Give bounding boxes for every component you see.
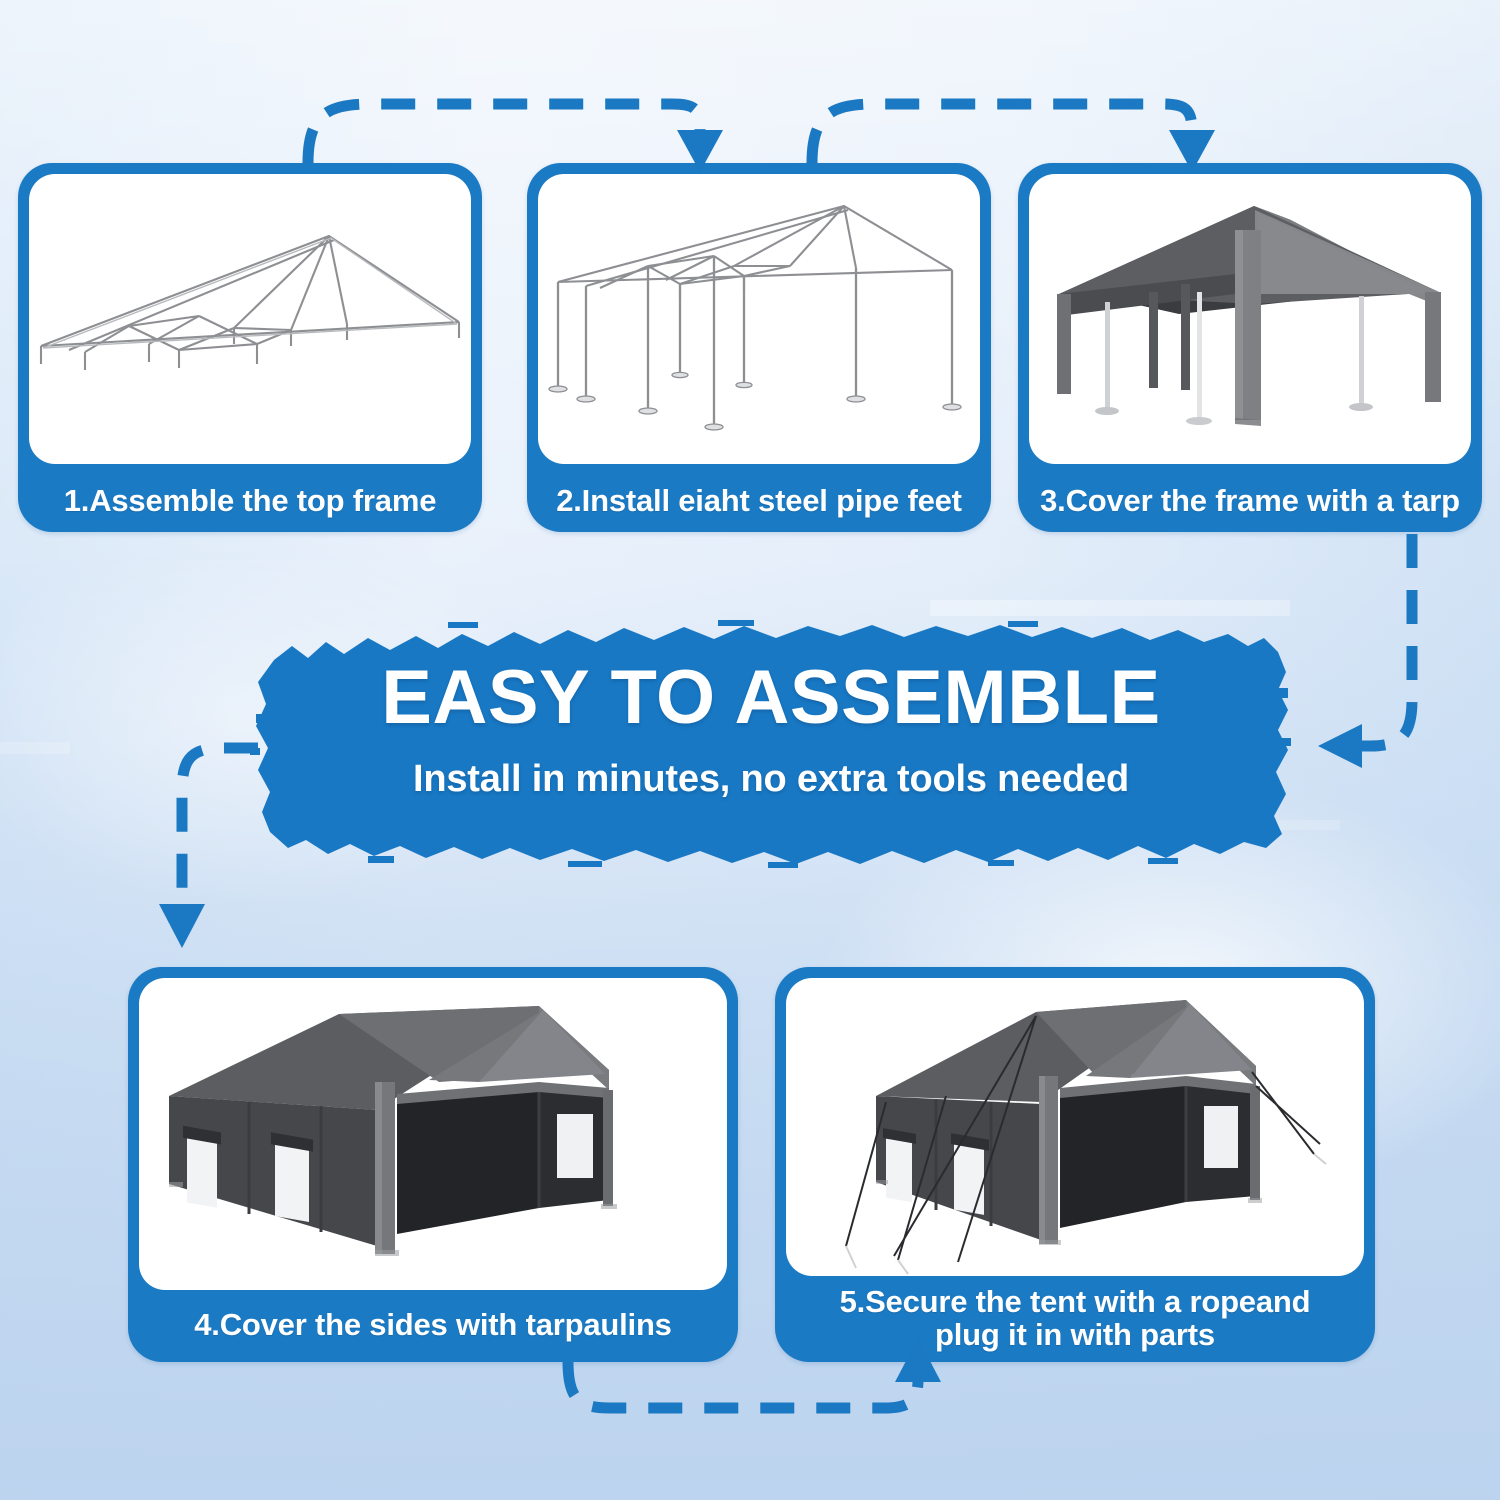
arrow-step1-to-step2 [308,104,723,172]
step-card-1[interactable]: 1.Assemble the top frame [18,163,482,532]
infographic-canvas: 1.Assemble the top frame [0,0,1500,1500]
banner-text-block: EASY TO ASSEMBLE Install in minutes, no … [248,660,1294,801]
background-streak-3 [0,742,70,754]
step-card-3[interactable]: 3.Cover the frame with a tarp [1018,163,1482,532]
step-1-caption: 1.Assemble the top frame [18,470,482,532]
step-5-caption: 5.Secure the tent with a ropeand plug it… [775,1274,1375,1362]
step-3-caption: 3.Cover the frame with a tarp [1018,470,1482,532]
background-streak-1 [930,600,1290,616]
carport-with-roof-tarp-illustration [1029,174,1471,464]
step-5-image-panel [786,978,1364,1276]
easy-to-assemble-banner: EASY TO ASSEMBLE Install in minutes, no … [248,618,1294,868]
step-4-caption: 4.Cover the sides with tarpaulins [128,1288,738,1362]
carport-frame-with-legs-illustration [538,174,980,464]
carport-with-side-walls-illustration [139,978,727,1290]
step-3-image-panel [1029,174,1471,464]
step-5-caption-line-2: plug it in with parts [840,1318,1311,1351]
banner-title: EASY TO ASSEMBLE [248,660,1294,736]
step-2-caption: 2.Install eiaht steel pipe feet [527,470,991,532]
step-card-2[interactable]: 2.Install eiaht steel pipe feet [527,163,991,532]
step-card-4[interactable]: 4.Cover the sides with tarpaulins [128,967,738,1362]
step-5-caption-line-1: 5.Secure the tent with a ropeand [840,1285,1311,1318]
carport-top-frame-illustration [29,174,471,464]
step-1-image-panel [29,174,471,464]
arrow-banner-to-step4 [159,748,258,948]
arrow-step2-to-step3 [812,104,1215,172]
step-4-image-panel [139,978,727,1290]
step-card-5[interactable]: 5.Secure the tent with a ropeand plug it… [775,967,1375,1362]
arrow-step3-to-banner [1318,534,1412,768]
banner-subtitle: Install in minutes, no extra tools neede… [248,758,1294,801]
carport-with-guy-ropes-illustration [786,978,1364,1276]
step-2-image-panel [538,174,980,464]
